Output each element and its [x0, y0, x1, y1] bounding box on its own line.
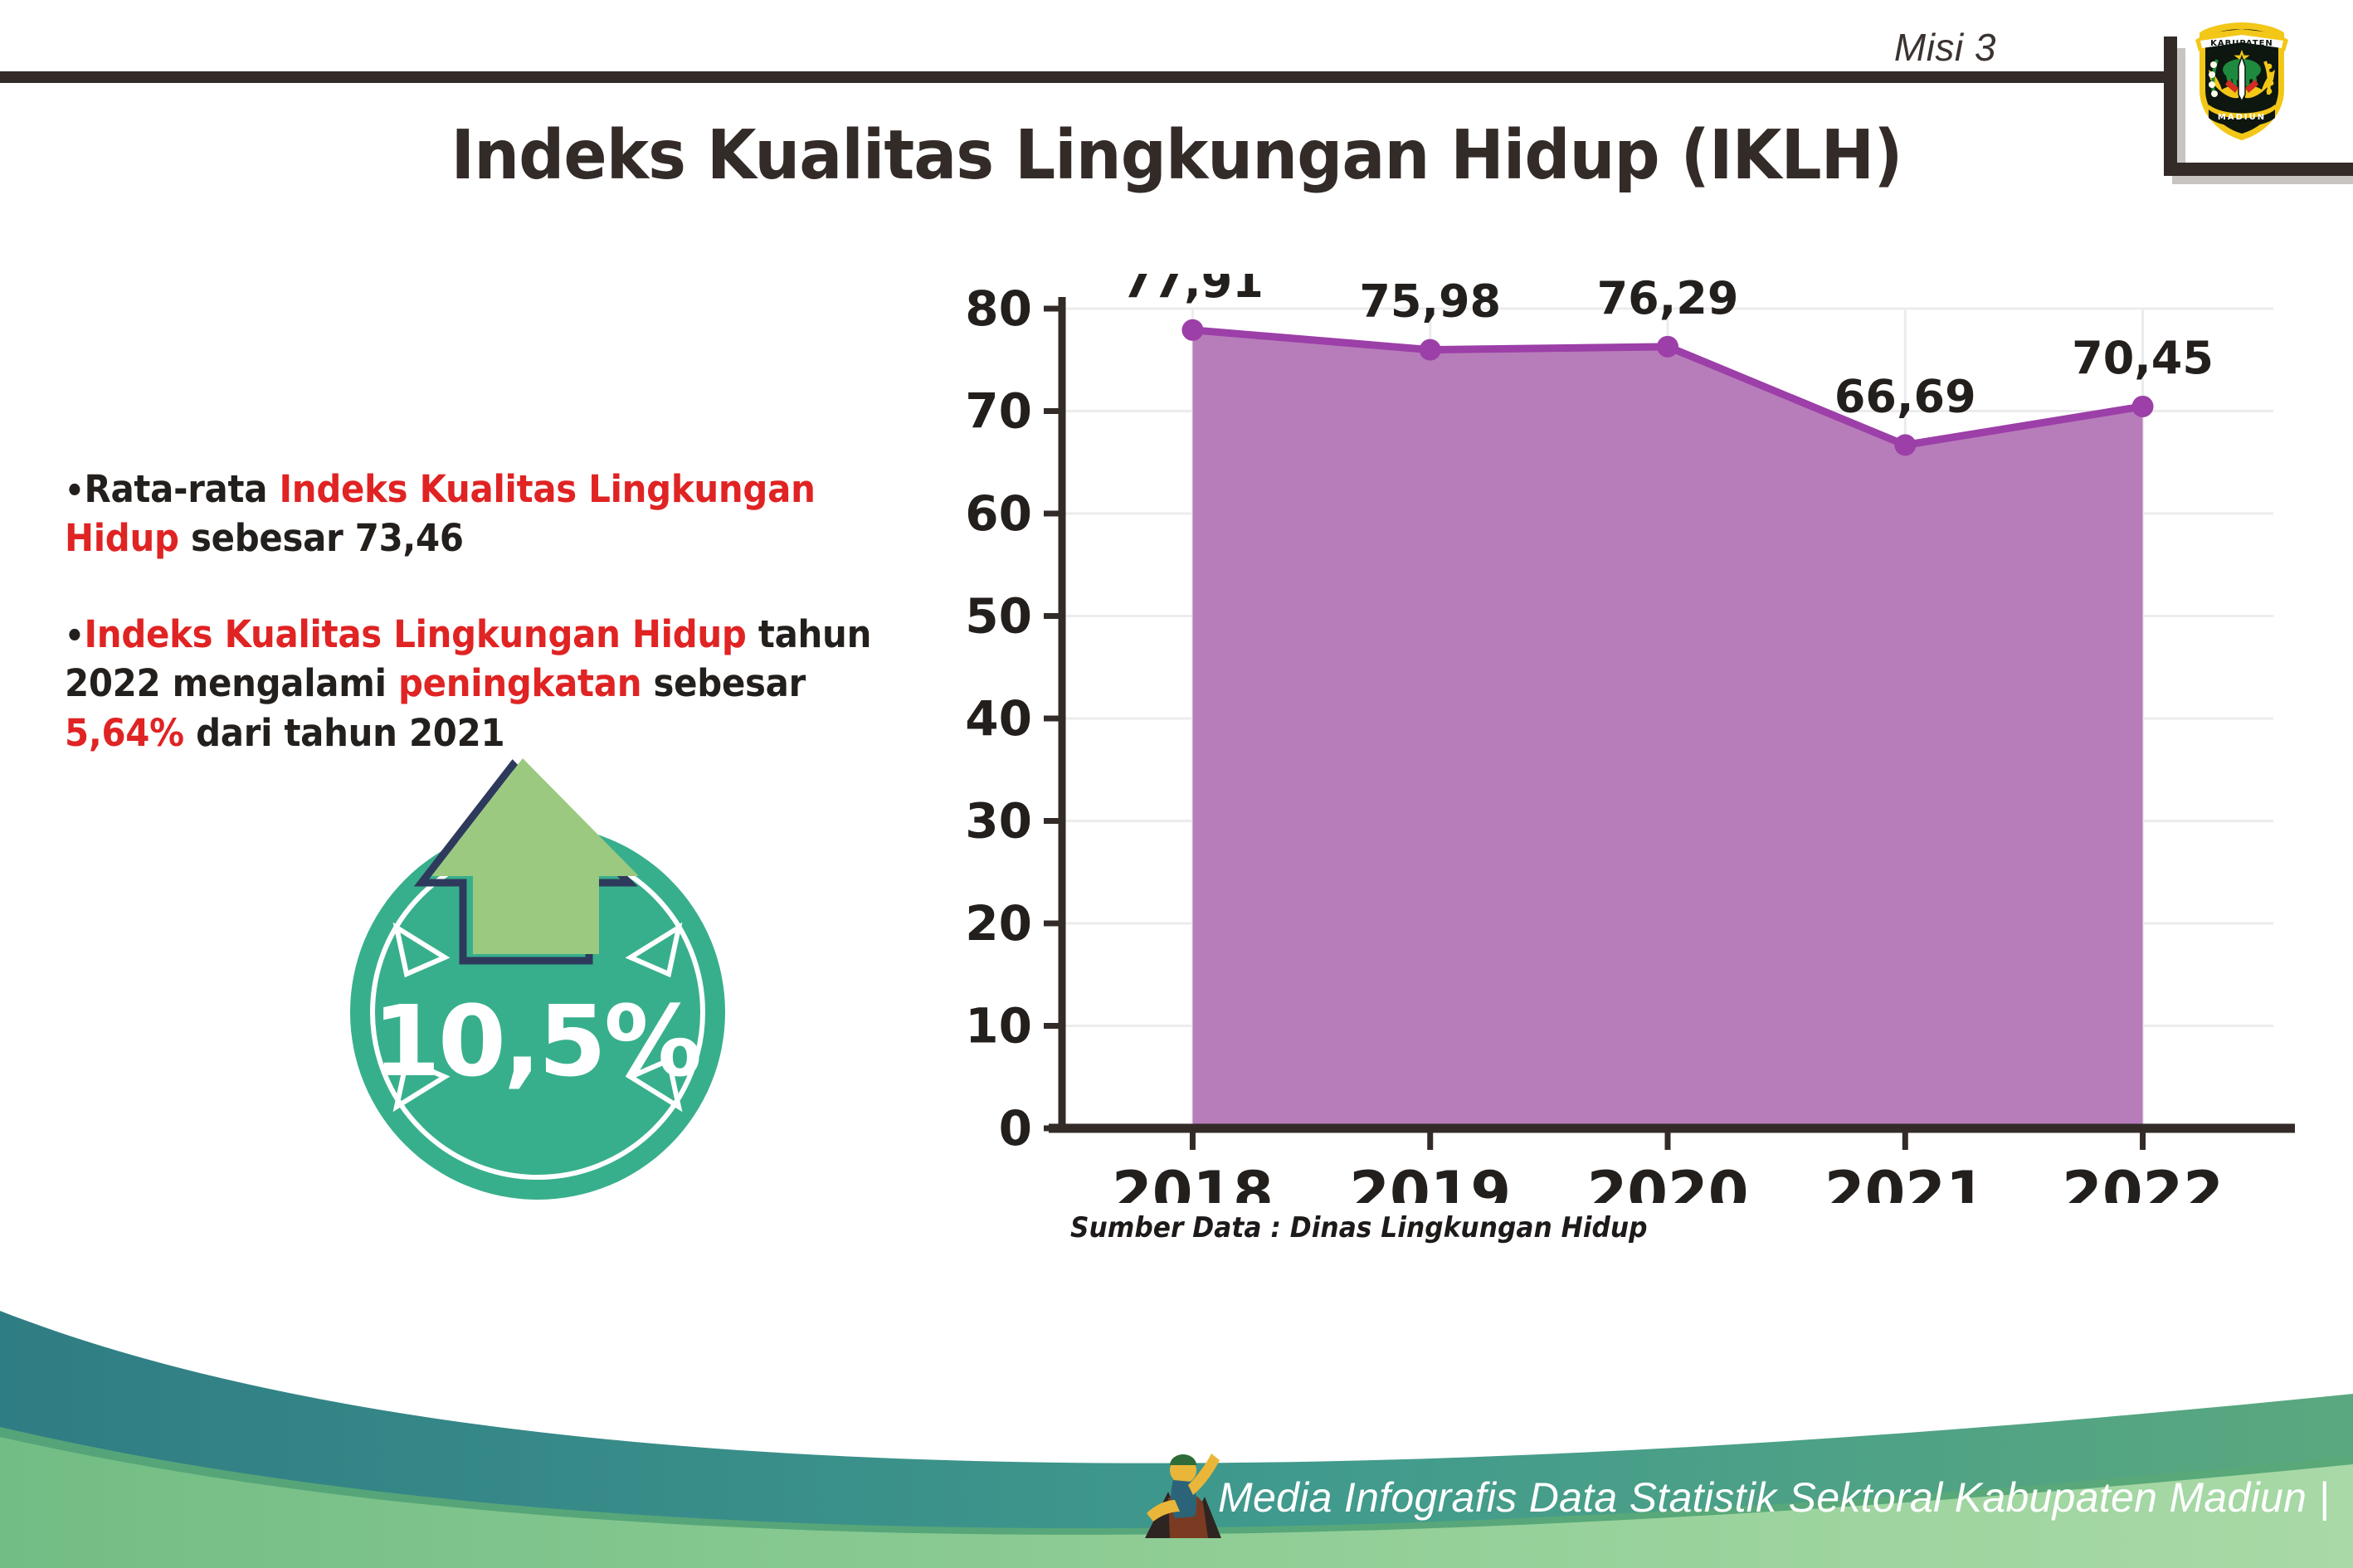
bullet-highlight: peningkatan [398, 661, 641, 705]
bullet-item-1: •Indeks Kualitas Lingkungan Hidup tahun … [65, 610, 883, 757]
bullet-text-0: Rata-rata Indeks Kualitas Lingkungan Hid… [65, 467, 816, 560]
page-title: Indeks Kualitas Lingkungan Hidup (IKLH) [71, 116, 2282, 195]
bullet-plain: Rata-rata [85, 467, 280, 511]
data-point-marker [1181, 319, 1203, 341]
y-axis-tick-label: 40 [965, 690, 1032, 747]
data-label: 76,29 [1597, 274, 1739, 324]
svg-text:KABUPATEN: KABUPATEN [2210, 39, 2273, 48]
infographic-slide: Misi 3 KABUPATEN MADIUN Indeks Kuali [0, 0, 2353, 1568]
bullet-highlight: 5,64% [65, 711, 184, 755]
bullet-plain: sebesar 73,46 [179, 516, 464, 560]
data-label: 77,91 [1122, 274, 1264, 308]
x-axis-tick-label: 2020 [1587, 1159, 1749, 1203]
x-axis-tick-label: 2022 [2062, 1159, 2224, 1203]
data-point-marker [1420, 339, 1441, 361]
header-rule [0, 71, 2170, 83]
increase-badge: 10,5% [320, 752, 752, 1216]
y-axis-tick-label: 50 [965, 588, 1032, 645]
y-axis-tick-label: 10 [965, 998, 1032, 1054]
y-axis-tick-label: 80 [965, 280, 1032, 337]
data-label: 75,98 [1359, 275, 1501, 328]
y-axis-tick-label: 20 [965, 895, 1032, 952]
badge-value: 10,5% [320, 984, 752, 1098]
x-axis-tick-label: 2021 [1824, 1159, 1986, 1203]
x-axis-tick-label: 2019 [1349, 1159, 1511, 1203]
mission-label: Misi 3 [1894, 25, 1996, 70]
data-label: 70,45 [2072, 332, 2214, 384]
y-axis-tick-label: 0 [999, 1100, 1032, 1157]
y-axis-tick-label: 70 [965, 383, 1032, 440]
data-label: 66,69 [1834, 370, 1976, 422]
bullet-highlight: Indeks Kualitas Lingkungan Hidup [85, 612, 747, 656]
chart-canvas: 77,9175,9876,2966,6970,45010203040506070… [954, 274, 2298, 1203]
data-point-marker [1657, 336, 1678, 358]
chart-source-note: Sumber Data : Dinas Lingkungan Hidup [1070, 1211, 1648, 1244]
y-axis-tick-label: 30 [965, 793, 1032, 850]
iklh-area-chart: 77,9175,9876,2966,6970,45010203040506070… [954, 274, 2298, 1203]
x-axis-tick-label: 2018 [1112, 1159, 1274, 1203]
bullet-item-0: •Rata-rata Indeks Kualitas Lingkungan Hi… [65, 465, 883, 563]
area-fill [1192, 330, 2142, 1128]
bullet-text-1: Indeks Kualitas Lingkungan Hidup tahun 2… [65, 612, 871, 755]
footer-caption: Media Infografis Data Statistik Sektoral… [1218, 1473, 2330, 1522]
bullet-plain: sebesar [641, 661, 806, 705]
statistics-figure-icon [1137, 1445, 1228, 1545]
bullet-plain: dari tahun 2021 [184, 711, 505, 755]
data-point-marker [2132, 396, 2154, 417]
bullet-marker: • [65, 472, 85, 510]
bullet-marker: • [65, 617, 85, 655]
y-axis-tick-label: 60 [965, 485, 1032, 542]
data-point-marker [1894, 434, 1916, 455]
